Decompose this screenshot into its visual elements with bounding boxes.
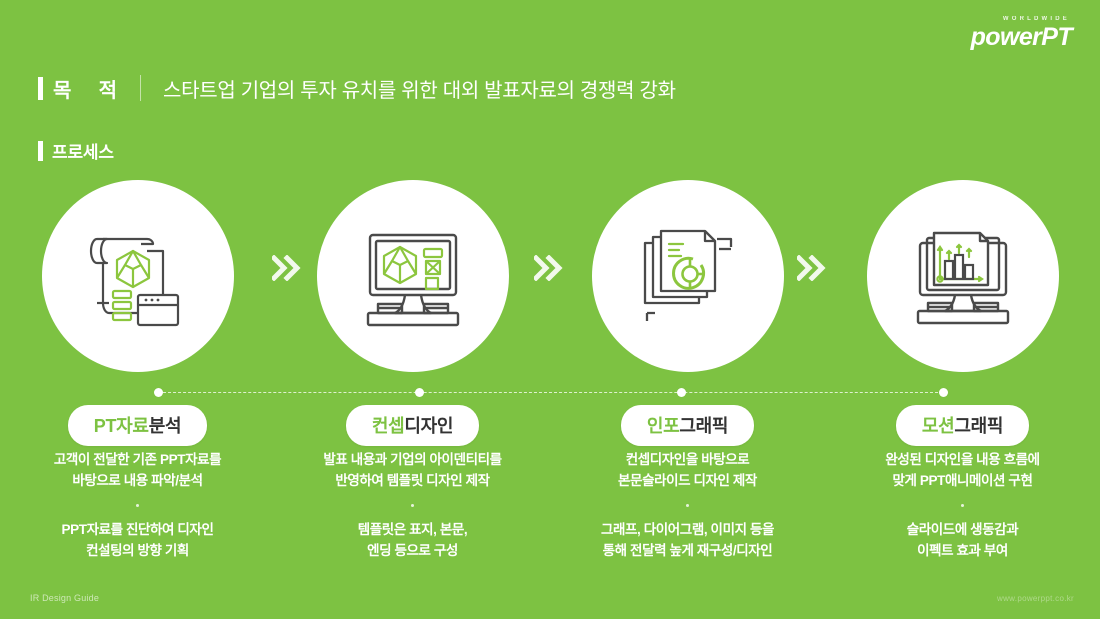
label-cell-4: 모션그래픽 (825, 405, 1100, 446)
description-bottom: 슬라이드에 생동감과이펙트 효과 부여 (837, 520, 1088, 562)
step-label-dark: 그래픽 (954, 412, 1003, 438)
footer-guide-label: IR Design Guide (30, 593, 99, 603)
step-circle (317, 180, 509, 372)
step-label-pill-3[interactable]: 인포그래픽 (621, 405, 754, 446)
step-labels: PT자료 분석 컨셉디자인 인포그래픽 모션그래픽 (0, 405, 1100, 446)
step-label-green: 컨셉 (372, 412, 405, 438)
bullet-dot-icon (136, 504, 139, 507)
vertical-divider (140, 75, 141, 101)
footer-url: www.powerppt.co.kr (997, 594, 1074, 603)
chevron-right-icon-1 (272, 255, 306, 281)
description-top: 발표 내용과 기업의 아이덴티티를반영하여 템플릿 디자인 제작 (287, 450, 538, 492)
description-cell-4: 완성된 디자인을 내용 흐름에맞게 PPT애니메이션 구현 슬라이드에 생동감과… (825, 450, 1100, 562)
step-circle (42, 180, 234, 372)
step-label-green: PT자료 (94, 412, 149, 438)
step-descriptions: 고객이 전달한 기존 PPT자료를바탕으로 내용 파악/분석 PPT자료를 진단… (0, 450, 1100, 562)
connector-node (154, 388, 163, 397)
chevron-right-icon-3 (797, 255, 831, 281)
step-label-dark: 그래픽 (679, 412, 728, 438)
step-circle (867, 180, 1059, 372)
connector-node (415, 388, 424, 397)
connector-node (939, 388, 948, 397)
process-heading: 프로세스 (38, 138, 114, 163)
description-top: 고객이 전달한 기존 PPT자료를바탕으로 내용 파악/분석 (12, 450, 263, 492)
connector-node (677, 388, 686, 397)
label-cell-1: PT자료 분석 (0, 405, 275, 446)
step-label-green: 모션 (922, 412, 955, 438)
process-title: 프로세스 (52, 138, 114, 163)
description-cell-3: 컨셉디자인을 바탕으로본문슬라이드 디자인 제작 그래프, 다이어그램, 이미지… (550, 450, 825, 562)
step-label-pill-1[interactable]: PT자료 분석 (68, 405, 207, 446)
logo-tagline: WORLDWIDE (971, 16, 1072, 22)
step-circle (592, 180, 784, 372)
step-connector (158, 388, 943, 397)
desktop-monitor-design-icon (358, 221, 468, 331)
step-3 (550, 180, 825, 372)
step-label-dark: 분석 (149, 412, 182, 438)
description-top: 완성된 디자인을 내용 흐름에맞게 PPT애니메이션 구현 (837, 450, 1088, 492)
connector-line (158, 392, 943, 393)
step-2 (275, 180, 550, 372)
description-bottom: PPT자료를 진단하여 디자인컨설팅의 방향 기획 (12, 520, 263, 562)
logo-wordmark: powerPT (971, 25, 1072, 50)
step-label-pill-2[interactable]: 컨셉디자인 (346, 405, 479, 446)
step-1 (0, 180, 275, 372)
slide-canvas: WORLDWIDE powerPT 목 적 스타트업 기업의 투자 유치를 위한… (0, 0, 1100, 619)
description-bottom: 그래프, 다이어그램, 이미지 등을통해 전달력 높게 재구성/디자인 (562, 520, 813, 562)
bullet-dot-icon (686, 504, 689, 507)
accent-bar-icon (38, 77, 43, 100)
label-cell-2: 컨셉디자인 (275, 405, 550, 446)
step-label-pill-4[interactable]: 모션그래픽 (896, 405, 1029, 446)
description-top: 컨셉디자인을 바탕으로본문슬라이드 디자인 제작 (562, 450, 813, 492)
blueprint-document-icon (83, 221, 193, 331)
logo-word-pt: PT (1041, 23, 1072, 51)
step-label-dark: 디자인 (404, 412, 453, 438)
purpose-label: 목 적 (53, 74, 118, 103)
stacked-documents-chart-icon (633, 221, 743, 331)
accent-bar-icon (38, 141, 43, 161)
brand-logo: WORLDWIDE powerPT (971, 16, 1072, 50)
monitor-bar-chart-motion-icon (908, 221, 1018, 331)
step-4 (825, 180, 1100, 372)
purpose-row: 목 적 스타트업 기업의 투자 유치를 위한 대외 발표자료의 경쟁력 강화 (38, 68, 676, 108)
logo-word-power: power (971, 23, 1042, 51)
label-cell-3: 인포그래픽 (550, 405, 825, 446)
purpose-text: 스타트업 기업의 투자 유치를 위한 대외 발표자료의 경쟁력 강화 (163, 74, 676, 103)
bullet-dot-icon (961, 504, 964, 507)
description-cell-2: 발표 내용과 기업의 아이덴티티를반영하여 템플릿 디자인 제작 템플릿은 표지… (275, 450, 550, 562)
description-cell-1: 고객이 전달한 기존 PPT자료를바탕으로 내용 파악/분석 PPT자료를 진단… (0, 450, 275, 562)
step-label-green: 인포 (647, 412, 680, 438)
bullet-dot-icon (411, 504, 414, 507)
chevron-right-icon-2 (534, 255, 568, 281)
description-bottom: 템플릿은 표지, 본문,엔딩 등으로 구성 (287, 520, 538, 562)
